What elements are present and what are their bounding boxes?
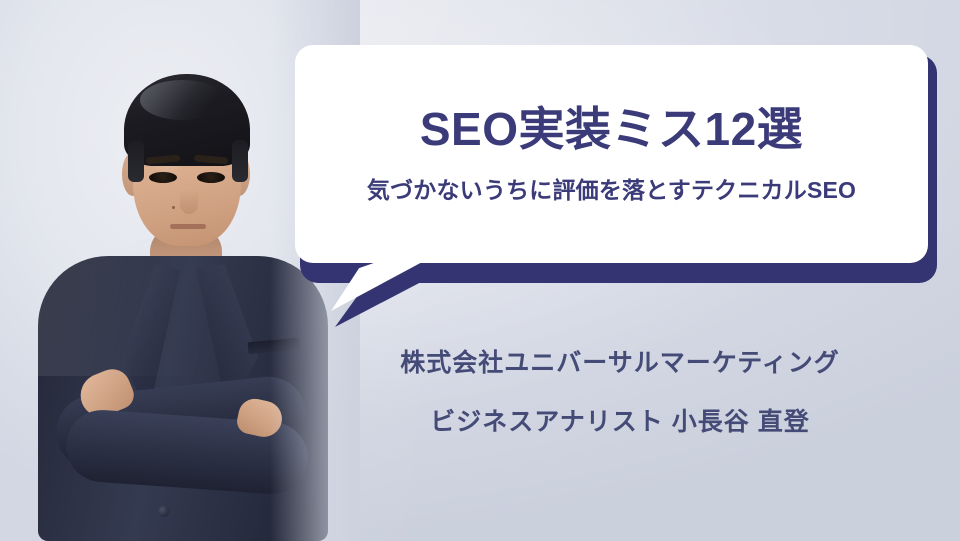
photo-blazer-button [158,506,169,517]
photo-sideburn-right [232,140,248,182]
page-title: SEO実装ミス12選 [420,104,803,155]
title-slide: SEO実装ミス12選 気づかないうちに評価を落とすテクニカルSEO 株式会社ユニ… [0,0,960,541]
presenter-role-and-name: ビジネスアナリスト 小長谷 直登 [340,407,900,438]
photo-mole [172,206,175,209]
presenter-credits: 株式会社ユニバーサルマーケティング ビジネスアナリスト 小長谷 直登 [340,348,900,439]
photo-mouth [170,224,206,229]
page-subtitle: 気づかないうちに評価を落とすテクニカルSEO [367,177,856,205]
photo-sideburn-left [128,140,144,182]
speech-bubble: SEO実装ミス12選 気づかないうちに評価を落とすテクニカルSEO [295,45,932,280]
photo-eye-left [149,172,177,183]
speech-bubble-body: SEO実装ミス12選 気づかないうちに評価を落とすテクニカルSEO [295,45,928,263]
photo-hair-sheen [140,80,224,120]
photo-eye-right [197,172,225,183]
presenter-organization: 株式会社ユニバーサルマーケティング [340,348,900,379]
photo-nose [180,190,198,214]
